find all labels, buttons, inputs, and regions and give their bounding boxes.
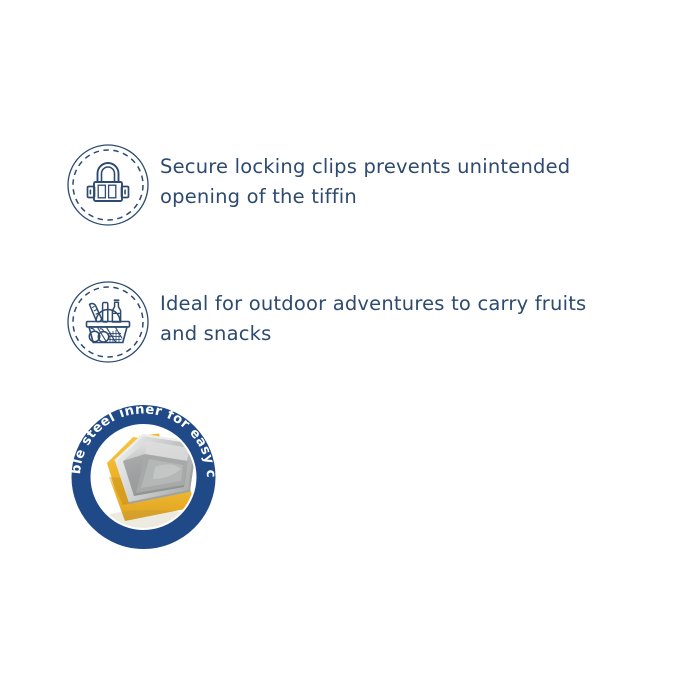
promo-feature-panel: Secure locking clips prevents unintended… (0, 0, 700, 700)
feature-item-outdoor-adventures: Ideal for outdoor adventures to carry fr… (66, 280, 586, 364)
removable-steel-inner-badge: Removable steel inner for easy cleaning (63, 403, 224, 545)
padlock-icon (66, 143, 150, 227)
feature-item-label: Secure locking clips prevents unintended… (160, 143, 570, 212)
feature-item-secure-locking-clips: Secure locking clips prevents unintended… (66, 143, 570, 227)
feature-item-label: Ideal for outdoor adventures to carry fr… (160, 280, 586, 349)
picnic-basket-icon (66, 280, 150, 364)
